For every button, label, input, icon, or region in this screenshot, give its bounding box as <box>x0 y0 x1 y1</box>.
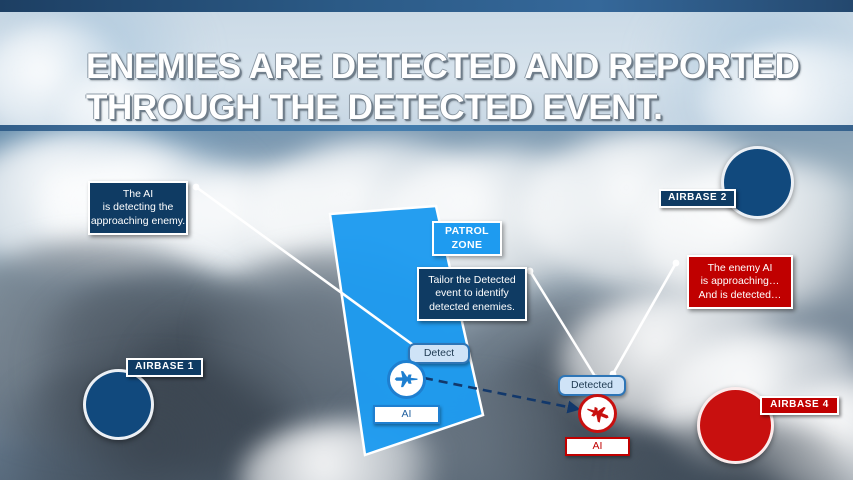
callout-friendly-ai-text: The AI is detecting the approaching enem… <box>91 188 185 228</box>
friendly-ai-label-text: AI <box>402 408 412 421</box>
event-detect[interactable]: Detect <box>408 343 470 364</box>
event-detect-text: Detect <box>424 347 454 360</box>
callout-tailor-event-text: Tailor the Detected event to identify de… <box>428 274 516 314</box>
callout-enemy-ai[interactable]: The enemy AI is approaching… And is dete… <box>687 255 793 309</box>
enemy-jet-badge[interactable] <box>578 394 617 433</box>
enemy-ai-label[interactable]: AI <box>565 437 630 456</box>
airbase-4-label[interactable]: AIRBASE 4 <box>760 396 839 415</box>
event-detected[interactable]: Detected <box>558 375 626 396</box>
callout-enemy-ai-text: The enemy AI is approaching… And is dete… <box>699 262 782 302</box>
fighter-jet-icon <box>584 400 611 427</box>
airbase-1-label-text: AIRBASE 1 <box>135 361 194 374</box>
top-accent-strip <box>0 0 853 12</box>
callout-friendly-ai[interactable]: The AI is detecting the approaching enem… <box>88 181 188 235</box>
event-detected-text: Detected <box>571 379 613 392</box>
callout-patrol-zone-text: PATROL ZONE <box>445 225 489 252</box>
callout-tailor-event[interactable]: Tailor the Detected event to identify de… <box>417 267 527 321</box>
friendly-ai-label[interactable]: AI <box>373 405 440 424</box>
slide-canvas: ENEMIES ARE DETECTED AND REPORTED THROUG… <box>0 0 853 480</box>
airbase-2-label-text: AIRBASE 2 <box>668 192 727 205</box>
fighter-jet-icon <box>393 366 420 393</box>
callout-patrol-zone[interactable]: PATROL ZONE <box>432 221 502 256</box>
friendly-jet-badge[interactable] <box>387 360 426 399</box>
airbase-1-label[interactable]: AIRBASE 1 <box>126 358 203 377</box>
airbase-4-label-text: AIRBASE 4 <box>770 399 829 412</box>
airbase-2-circle[interactable] <box>721 146 794 219</box>
enemy-ai-label-text: AI <box>593 440 603 453</box>
page-title: ENEMIES ARE DETECTED AND REPORTED THROUG… <box>86 47 826 128</box>
airbase-2-label[interactable]: AIRBASE 2 <box>659 189 736 208</box>
airbase-1-circle[interactable] <box>83 369 154 440</box>
